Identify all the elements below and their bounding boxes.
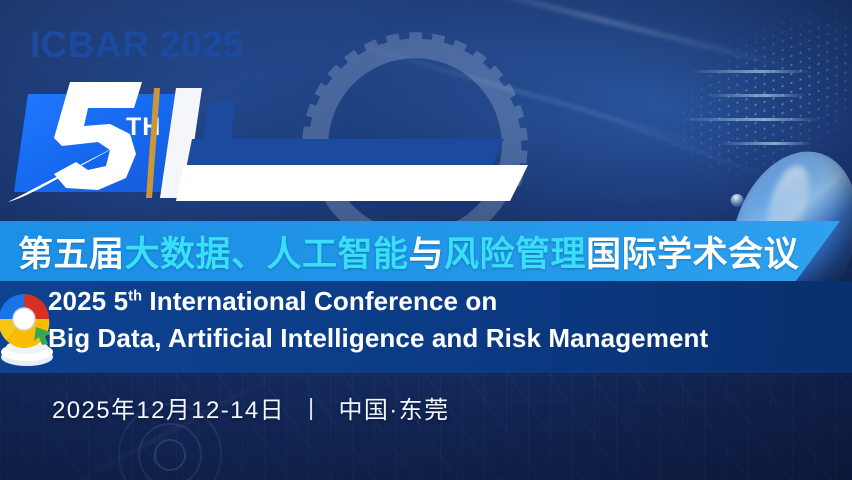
english-title-ordinal-suffix: th (128, 288, 142, 304)
conference-banner: TH ICBAR 2025 第五届大数据、人工智能与风险管理国际学术会议 (0, 0, 852, 480)
english-title: 2025 5th International Conference on Big… (48, 283, 852, 357)
conference-acronym-title: ICBAR 2025 (30, 27, 244, 63)
event-date: 2025年12月12-14日 (52, 390, 285, 425)
event-info-separator: 丨 (299, 390, 324, 425)
english-title-line-1: 2025 5th International Conference on (48, 283, 852, 320)
cn-title-part-4: 风险管理 (444, 226, 586, 277)
ribbon-white-layer (176, 165, 528, 201)
cn-title-part-2: 大数据、人工智能 (125, 226, 409, 277)
chinese-title: 第五届大数据、人工智能与风险管理国际学术会议 (18, 221, 799, 281)
cn-title-part-5: 国际学术会议 (586, 226, 799, 277)
ribbon-navy-layer (186, 139, 504, 169)
title-ribbon (176, 139, 528, 201)
english-title-line1-rest: International Conference on (142, 286, 497, 316)
event-info-bar: 2025年12月12-14日 丨 中国·东莞 (52, 390, 449, 425)
english-title-line-2: Big Data, Artificial Intelligence and Ri… (48, 320, 852, 357)
cn-title-part-3: 与 (409, 226, 445, 277)
cn-title-part-1: 第五届 (18, 226, 125, 277)
event-location: 中国·东莞 (338, 390, 449, 425)
english-title-line1-prefix: 2025 5 (48, 286, 128, 316)
